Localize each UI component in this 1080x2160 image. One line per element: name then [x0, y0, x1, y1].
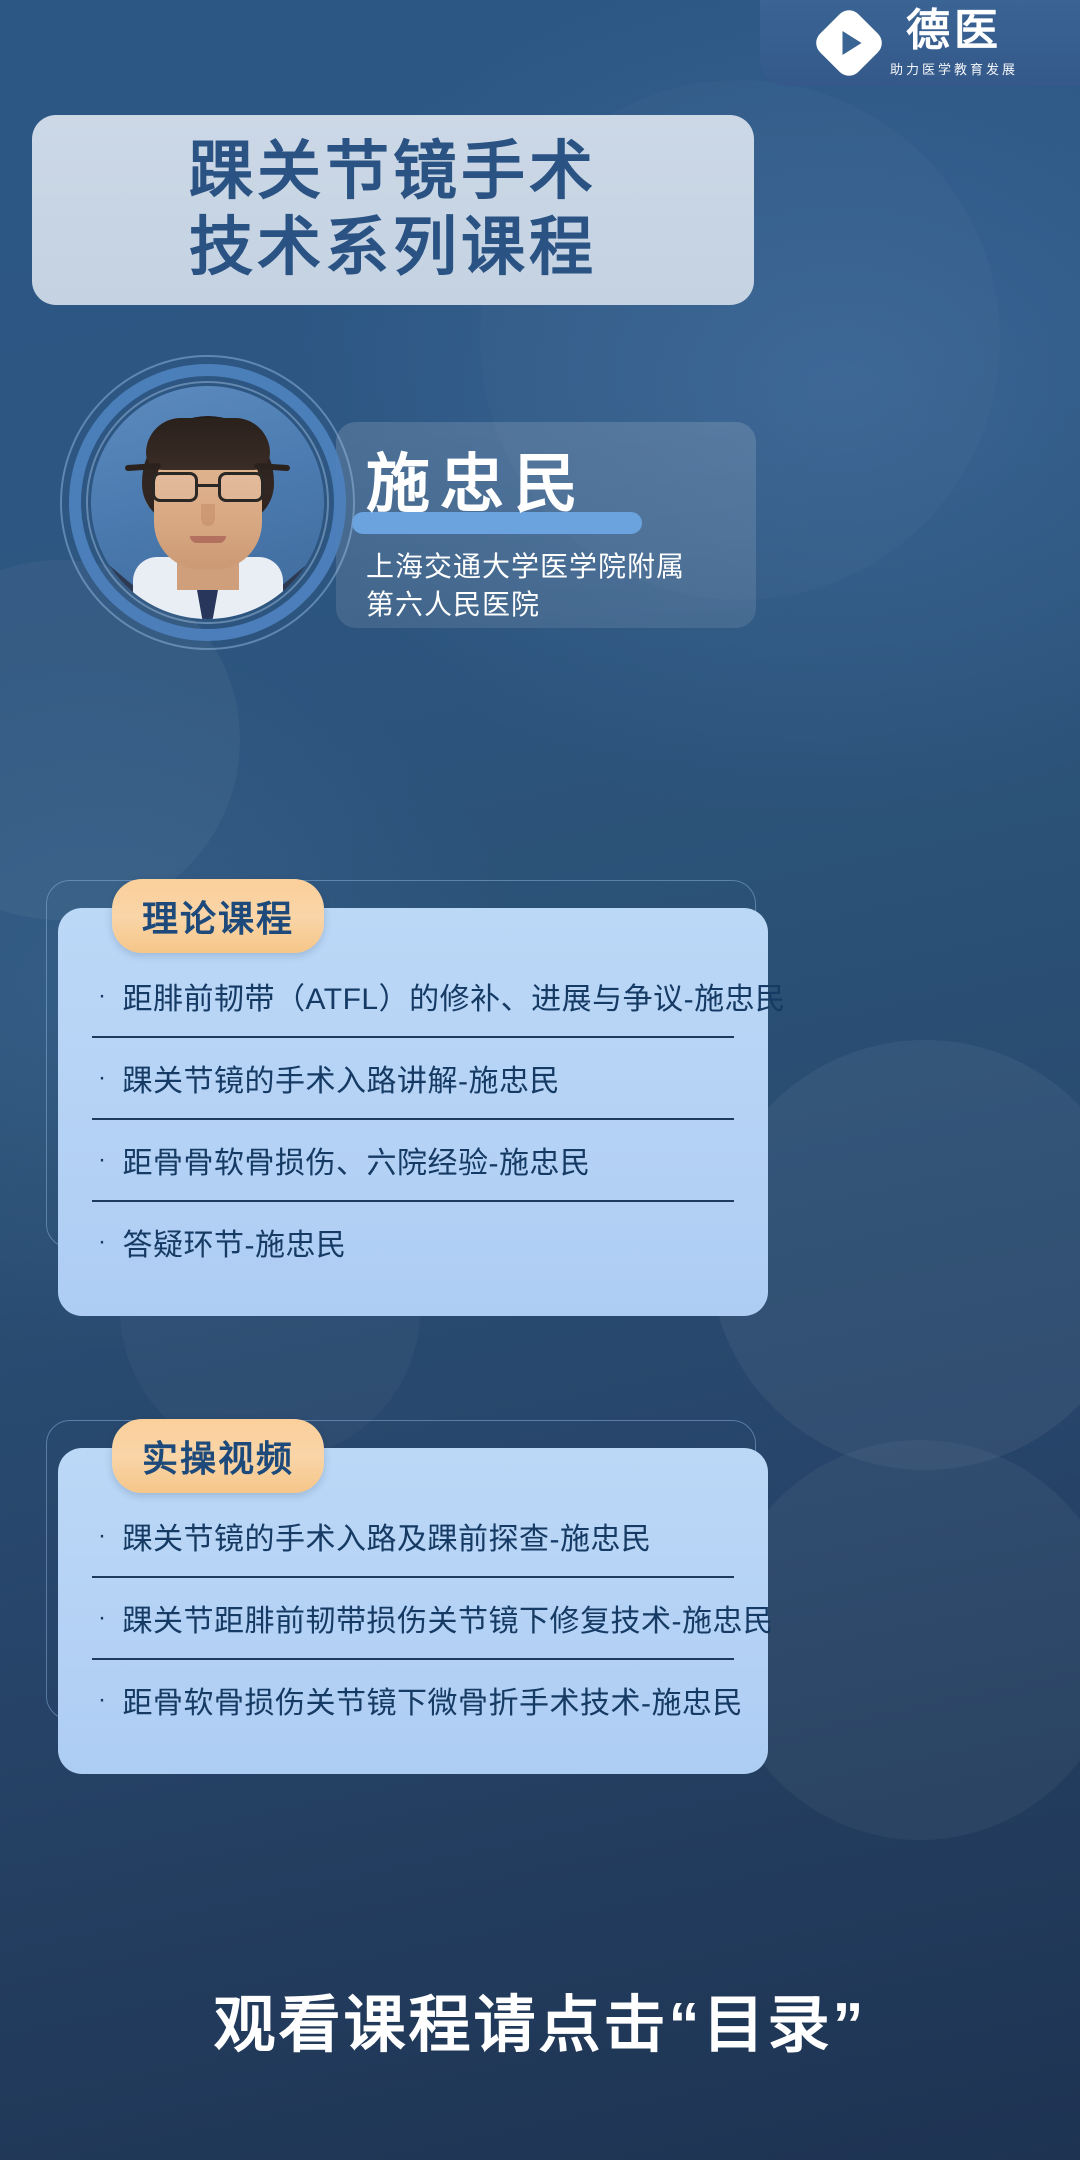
page-title: 踝关节镜手术 技术系列课程: [32, 115, 754, 305]
list-item-label: 踝关节距腓前韧带损伤关节镜下修复技术-施忠民: [123, 1596, 774, 1640]
section-badge-theory: 理论课程: [112, 879, 324, 953]
brand-logo[interactable]: 德医 助力医学教育发展: [760, 0, 1080, 86]
speaker-name: 施忠民: [366, 452, 588, 516]
bullet-icon: ·: [98, 1606, 107, 1630]
section-practical-videos: · 踝关节镜的手术入路及踝前探查-施忠民 · 踝关节距腓前韧带损伤关节镜下修复技…: [46, 1420, 756, 1720]
bullet-icon: ·: [98, 1688, 107, 1712]
bullet-icon: ·: [98, 1148, 107, 1172]
speaker-organization: 上海交通大学医学院附属 第六人民医院: [366, 548, 685, 624]
list-item-label: 踝关节镜的手术入路讲解-施忠民: [123, 1056, 561, 1100]
section-theory-courses: · 距腓前韧带（ATFL）的修补、进展与争议-施忠民 · 踝关节镜的手术入路讲解…: [46, 880, 756, 1248]
list-item-label: 踝关节镜的手术入路及踝前探查-施忠民: [123, 1514, 652, 1558]
speaker-org-line-2: 第六人民医院: [366, 586, 685, 624]
list-item-label: 距骨骨软骨损伤、六院经验-施忠民: [123, 1138, 591, 1182]
list-item-label: 距骨软骨损伤关节镜下微骨折手术技术-施忠民: [123, 1678, 744, 1722]
section-body: · 距腓前韧带（ATFL）的修补、进展与争议-施忠民 · 踝关节镜的手术入路讲解…: [58, 908, 768, 1316]
title-line-1: 踝关节镜手术: [189, 134, 597, 210]
bullet-icon: ·: [98, 1524, 107, 1548]
bullet-icon: ·: [98, 1230, 107, 1254]
bullet-icon: ·: [98, 984, 107, 1008]
speaker-org-line-1: 上海交通大学医学院附属: [366, 548, 685, 586]
brand-tagline: 助力医学教育发展: [890, 59, 1018, 78]
brand-text: 德医 助力医学教育发展: [890, 8, 1018, 77]
brand-name: 德医: [906, 8, 1002, 54]
list-item[interactable]: · 距骨骨软骨损伤、六院经验-施忠民: [92, 1120, 734, 1202]
play-diamond-icon: [822, 16, 876, 70]
bullet-icon: ·: [98, 1066, 107, 1090]
footer-cta: 观看课程请点击“目录”: [0, 1974, 1080, 2064]
list-item[interactable]: · 距腓前韧带（ATFL）的修补、进展与争议-施忠民: [92, 956, 734, 1038]
list-item-label: 答疑环节-施忠民: [123, 1220, 347, 1264]
doctor-portrait-icon: [91, 386, 324, 619]
list-item-label: 距腓前韧带（ATFL）的修补、进展与争议-施忠民: [123, 974, 786, 1018]
poster-root: 德医 助力医学教育发展 踝关节镜手术 技术系列课程: [0, 0, 1080, 2160]
decor-blob: [720, 1440, 1080, 1840]
section-body: · 踝关节镜的手术入路及踝前探查-施忠民 · 踝关节距腓前韧带损伤关节镜下修复技…: [58, 1448, 768, 1774]
title-line-2: 技术系列课程: [189, 210, 597, 286]
list-item[interactable]: · 距骨软骨损伤关节镜下微骨折手术技术-施忠民: [92, 1660, 734, 1740]
avatar: [60, 355, 355, 650]
list-item[interactable]: · 踝关节镜的手术入路及踝前探查-施忠民: [92, 1496, 734, 1578]
list-item[interactable]: · 踝关节距腓前韧带损伤关节镜下修复技术-施忠民: [92, 1578, 734, 1660]
section-badge-video: 实操视频: [112, 1419, 324, 1493]
list-item[interactable]: · 踝关节镜的手术入路讲解-施忠民: [92, 1038, 734, 1120]
speaker-name-block: 施忠民: [366, 452, 588, 516]
list-item[interactable]: · 答疑环节-施忠民: [92, 1202, 734, 1282]
